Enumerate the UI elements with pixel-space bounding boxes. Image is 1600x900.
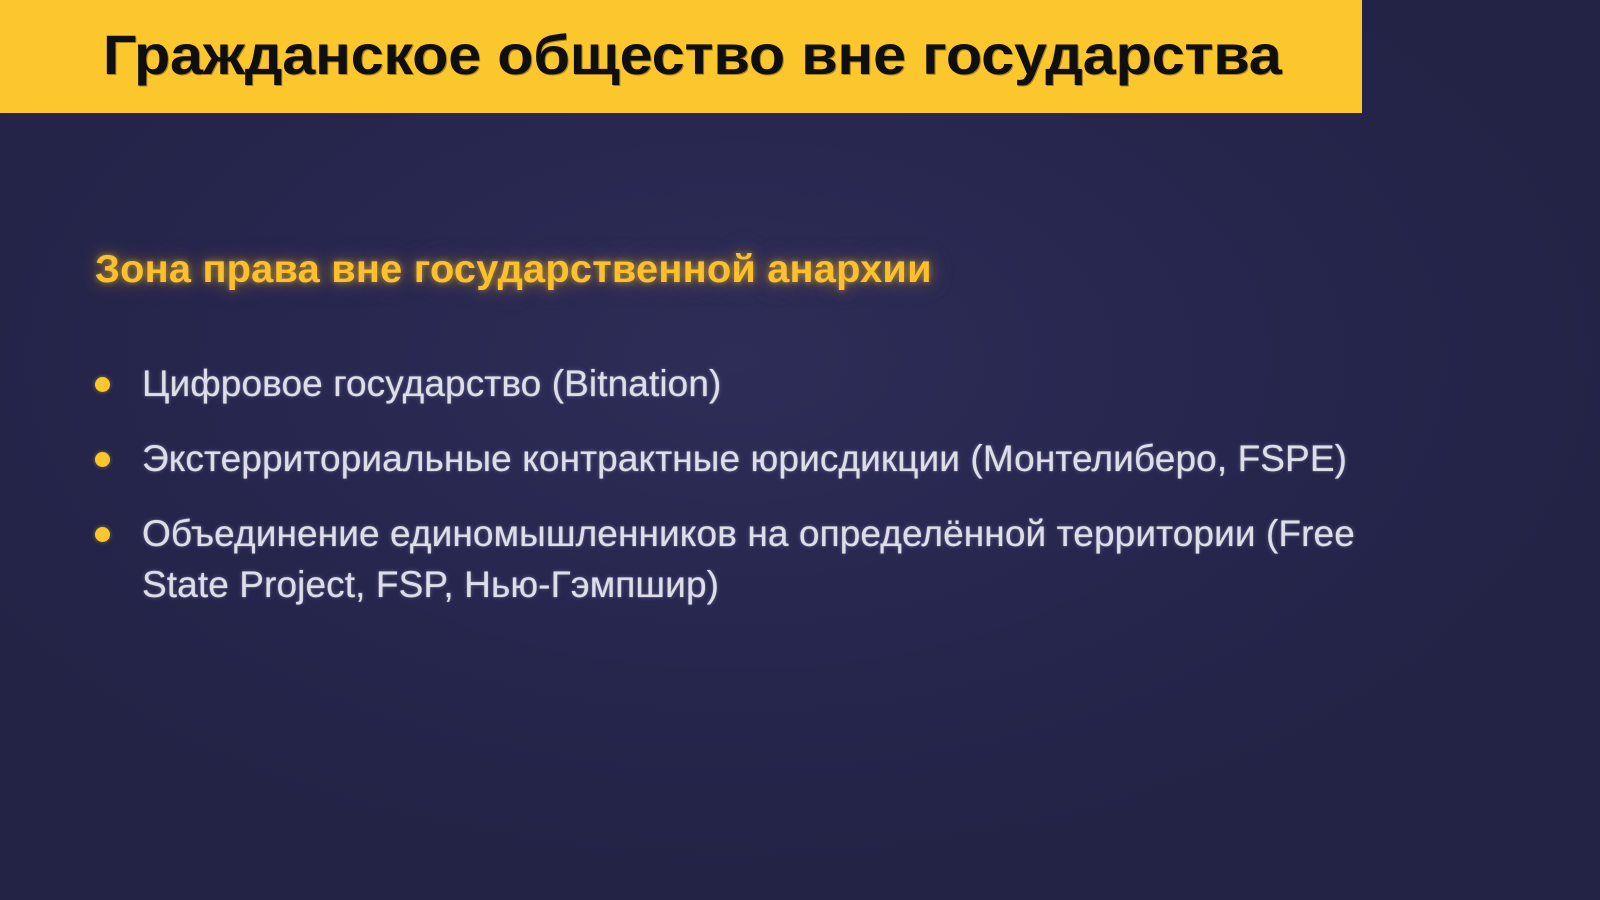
section-subtitle: Зона права вне государственной анархии bbox=[95, 248, 932, 292]
list-item-label: Экстерриториальные контрактные юрисдикци… bbox=[142, 433, 1355, 484]
page-title: Гражданское общество вне государства bbox=[0, 22, 1282, 91]
bullet-dot-icon bbox=[95, 527, 110, 542]
bullet-dot-icon bbox=[95, 377, 110, 392]
list-item-label: Цифровое государство (Bitnation) bbox=[142, 358, 1355, 409]
list-item: Объединение единомышленников на определё… bbox=[95, 508, 1355, 610]
list-item: Цифровое государство (Bitnation) bbox=[95, 358, 1355, 409]
list-item-label: Объединение единомышленников на определё… bbox=[142, 508, 1355, 610]
title-banner: Гражданское общество вне государства bbox=[0, 0, 1362, 113]
bullet-dot-icon bbox=[95, 452, 110, 467]
list-item: Экстерриториальные контрактные юрисдикци… bbox=[95, 433, 1355, 484]
bullet-list: Цифровое государство (Bitnation) Экстерр… bbox=[95, 358, 1355, 610]
slide-root: Гражданское общество вне государства Зон… bbox=[0, 0, 1600, 900]
